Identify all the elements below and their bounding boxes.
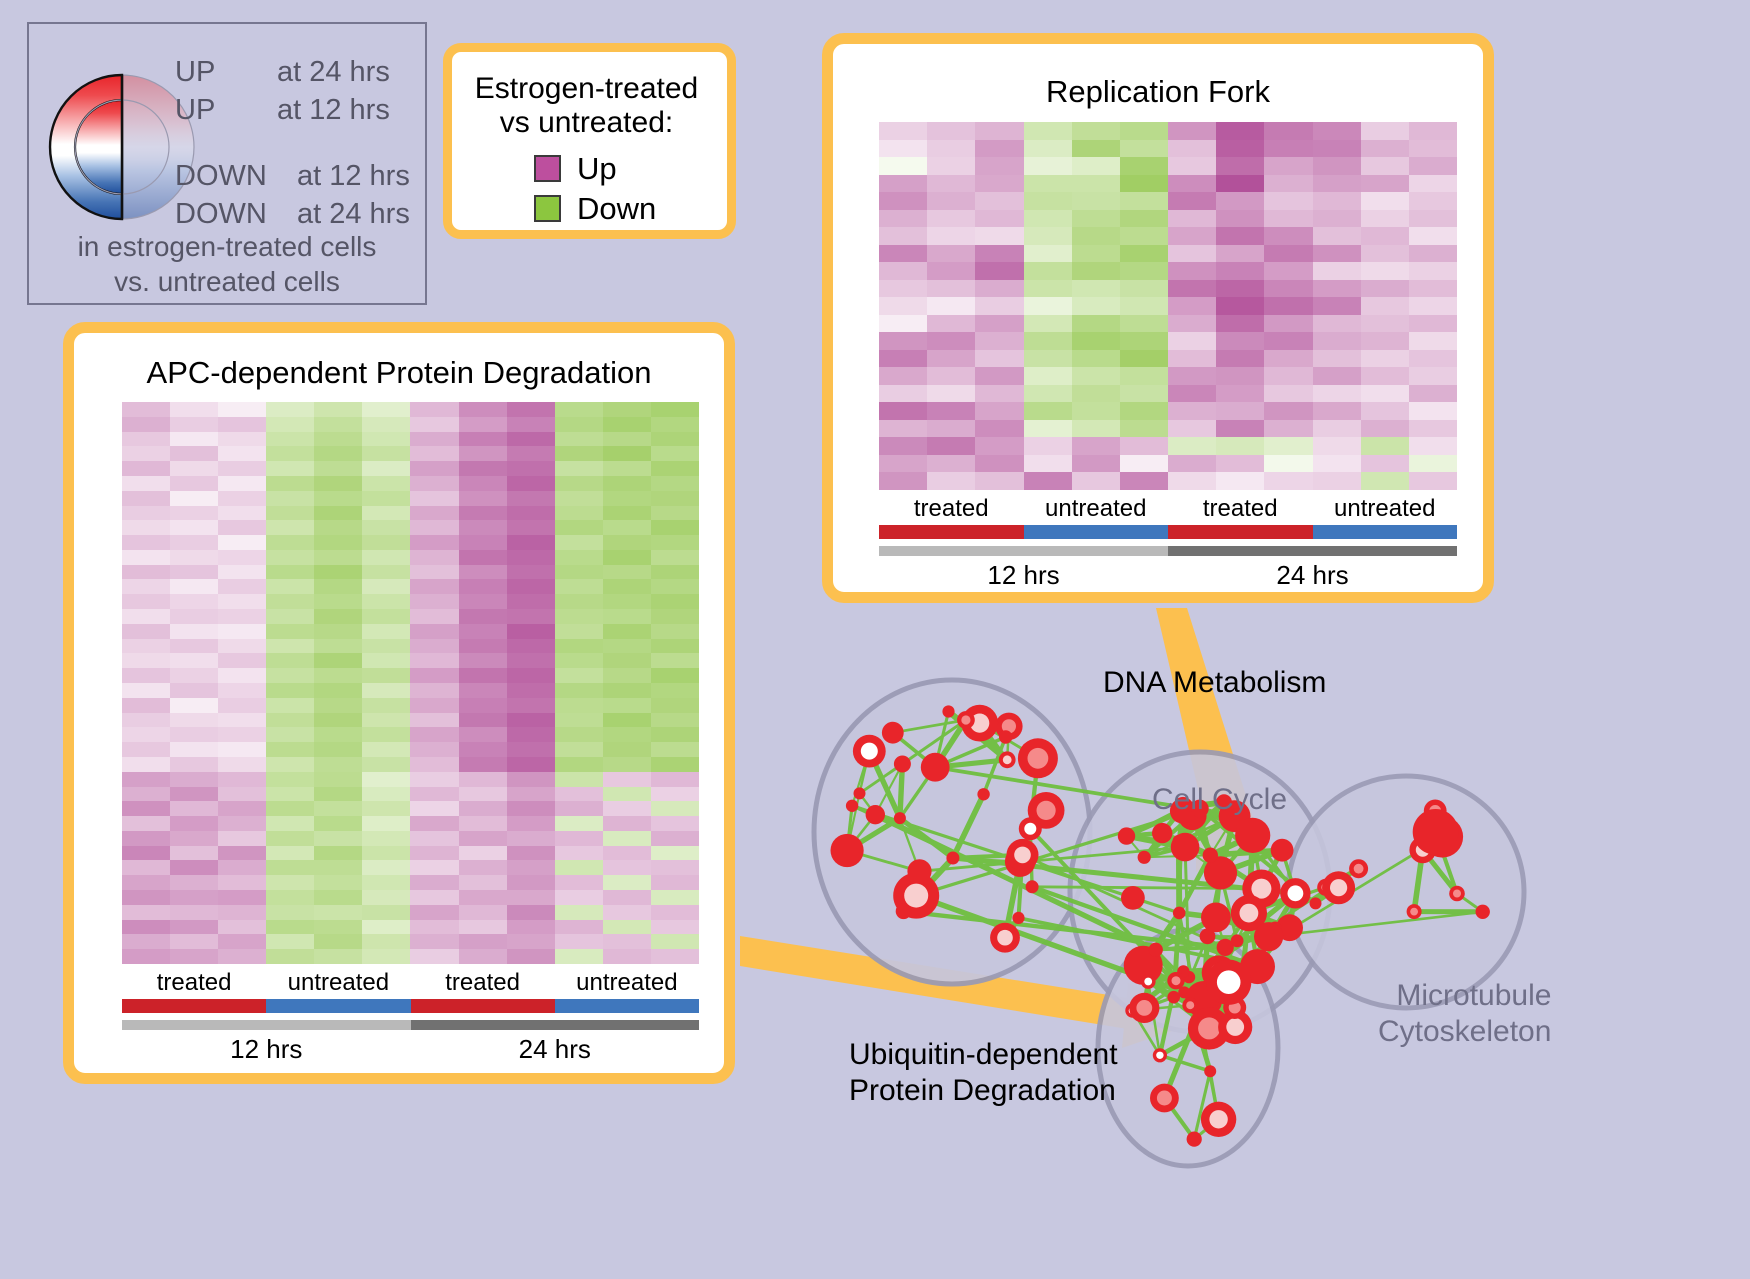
heatmap-cell bbox=[1168, 227, 1216, 245]
network-node bbox=[866, 805, 885, 824]
treatment-bar-segment bbox=[1024, 525, 1169, 539]
heatmap-cell bbox=[1024, 227, 1072, 245]
axis-rf-group-labels: treateduntreatedtreateduntreated bbox=[879, 496, 1457, 522]
heatmap-cell bbox=[1168, 245, 1216, 263]
network-node bbox=[1310, 897, 1322, 909]
heatmap-cell bbox=[603, 949, 651, 964]
network-node bbox=[1167, 991, 1180, 1004]
heatmap-cell bbox=[651, 653, 699, 668]
heatmap-cell bbox=[879, 280, 927, 298]
heatmap-cell bbox=[362, 520, 410, 535]
heatmap-cell bbox=[362, 565, 410, 580]
heatmap-cell bbox=[1313, 122, 1361, 140]
heatmap-cell bbox=[1313, 245, 1361, 263]
heatmap-cell bbox=[651, 905, 699, 920]
heatmap-cell bbox=[362, 432, 410, 447]
heatmap-cell bbox=[122, 772, 170, 787]
heatmap-cell bbox=[1120, 472, 1168, 490]
heatmap-cell bbox=[218, 683, 266, 698]
heatmap-cell bbox=[603, 402, 651, 417]
heatmap-cell bbox=[507, 846, 555, 861]
heatmap-cell bbox=[927, 315, 975, 333]
heatmap-cell bbox=[459, 920, 507, 935]
heatmap-cell bbox=[879, 175, 927, 193]
heatmap-cell bbox=[459, 402, 507, 417]
heatmap-cell bbox=[507, 624, 555, 639]
microtubule-line-1: Microtubule bbox=[1378, 978, 1551, 1014]
heatmap-cell bbox=[170, 668, 218, 683]
heatmap-cell bbox=[362, 757, 410, 772]
network-node bbox=[896, 904, 912, 920]
heatmap-cell bbox=[459, 417, 507, 432]
heatmap-cell bbox=[1072, 280, 1120, 298]
heatmap-cell bbox=[314, 742, 362, 757]
heatmap-cell bbox=[314, 713, 362, 728]
heatmap-cell bbox=[410, 727, 458, 742]
heatmap-cell bbox=[1264, 367, 1312, 385]
heatmap-cell bbox=[651, 609, 699, 624]
heatmap-cell bbox=[459, 432, 507, 447]
heatmap-cell bbox=[555, 742, 603, 757]
heatmap-cell bbox=[1024, 192, 1072, 210]
heatmap-cell bbox=[459, 757, 507, 772]
heatmap-cell bbox=[410, 831, 458, 846]
heatmap-cell bbox=[1216, 245, 1264, 263]
heatmap-cell bbox=[1264, 210, 1312, 228]
heatmap-cell bbox=[555, 698, 603, 713]
heatmap-cell bbox=[1168, 192, 1216, 210]
heatmap-cell bbox=[1072, 455, 1120, 473]
heatmap-cell bbox=[1409, 385, 1457, 403]
heatmap-cell bbox=[122, 432, 170, 447]
heatmap-cell bbox=[410, 698, 458, 713]
network-node bbox=[853, 735, 886, 768]
heatmap-cell bbox=[555, 831, 603, 846]
heatmap-cell bbox=[1409, 175, 1457, 193]
heatmap-cell bbox=[410, 565, 458, 580]
heatmap-cell bbox=[362, 742, 410, 757]
network-node bbox=[1182, 997, 1198, 1013]
heatmap-cell bbox=[362, 594, 410, 609]
network-node bbox=[1476, 905, 1490, 919]
heatmap-cell bbox=[122, 890, 170, 905]
heatmap-cell bbox=[1264, 455, 1312, 473]
heatmap-cell bbox=[459, 949, 507, 964]
heatmap-replication-fork bbox=[879, 122, 1457, 490]
heatmap-cell bbox=[1313, 210, 1361, 228]
heatmap-cell bbox=[122, 609, 170, 624]
heatmap-cell bbox=[218, 550, 266, 565]
heatmap-cell bbox=[1216, 210, 1264, 228]
heatmap-cell bbox=[170, 476, 218, 491]
heatmap-cell bbox=[218, 653, 266, 668]
heatmap-cell bbox=[1072, 192, 1120, 210]
heatmap-cell bbox=[362, 920, 410, 935]
colorwheel-legend-footer: in estrogen-treated cells vs. untreated … bbox=[29, 229, 425, 300]
heatmap-cell bbox=[410, 491, 458, 506]
heatmap-cell bbox=[1264, 262, 1312, 280]
heatmap-cell bbox=[314, 816, 362, 831]
heatmap-cell bbox=[362, 787, 410, 802]
heatmap-cell bbox=[1168, 367, 1216, 385]
heatmap-cell bbox=[1024, 420, 1072, 438]
heatmap-cell bbox=[975, 192, 1023, 210]
heatmap-cell bbox=[1120, 262, 1168, 280]
panel-replication-fork: Replication Fork treateduntreatedtreated… bbox=[822, 33, 1494, 603]
heatmap-cell bbox=[651, 757, 699, 772]
heatmap-cell bbox=[879, 437, 927, 455]
heatmap-cell bbox=[410, 816, 458, 831]
heatmap-cell bbox=[555, 801, 603, 816]
heatmap-cell bbox=[170, 860, 218, 875]
ubiquitin-line-1: Ubiquitin-dependent bbox=[849, 1037, 1118, 1073]
heatmap-cell bbox=[1024, 402, 1072, 420]
heatmap-cell bbox=[218, 772, 266, 787]
heatmap-cell bbox=[1168, 210, 1216, 228]
heatmap-cell bbox=[1409, 227, 1457, 245]
heatmap-cell bbox=[1072, 402, 1120, 420]
heatmap-cell bbox=[1409, 245, 1457, 263]
heatmap-cell bbox=[975, 245, 1023, 263]
heatmap-cell bbox=[975, 297, 1023, 315]
heatmap-cell bbox=[651, 934, 699, 949]
heatmap-cell bbox=[122, 831, 170, 846]
group-label: treated bbox=[122, 970, 266, 996]
heatmap-cell bbox=[651, 846, 699, 861]
heatmap-cell bbox=[218, 579, 266, 594]
heatmap-cell bbox=[1216, 262, 1264, 280]
axis-apc-time-labels: 12 hrs24 hrs bbox=[122, 1034, 699, 1065]
heatmap-cell bbox=[170, 742, 218, 757]
heatmap-cell bbox=[218, 787, 266, 802]
heatmap-cell bbox=[218, 742, 266, 757]
heatmap-cell bbox=[218, 476, 266, 491]
heatmap-cell bbox=[170, 949, 218, 964]
heatmap-cell bbox=[555, 757, 603, 772]
heatmap-cell bbox=[1024, 280, 1072, 298]
network-node bbox=[894, 756, 911, 773]
heatmap-cell bbox=[555, 506, 603, 521]
heatmap-cell bbox=[1072, 262, 1120, 280]
heatmap-cell bbox=[410, 476, 458, 491]
heatmap-cell bbox=[603, 816, 651, 831]
heatmap-cell bbox=[1264, 280, 1312, 298]
heatmap-cell bbox=[1216, 455, 1264, 473]
network-node bbox=[1153, 1048, 1167, 1062]
heatmap-cell bbox=[1361, 280, 1409, 298]
heatmap-cell bbox=[266, 920, 314, 935]
heatmap-cell bbox=[507, 787, 555, 802]
heatmap-cell bbox=[1024, 262, 1072, 280]
heatmap-cell bbox=[410, 520, 458, 535]
heatmap-cell bbox=[122, 506, 170, 521]
heatmap-cell bbox=[975, 402, 1023, 420]
heatmap-cell bbox=[266, 890, 314, 905]
heatmap-cell bbox=[975, 175, 1023, 193]
heatmap-cell bbox=[218, 949, 266, 964]
heatmap-cell bbox=[555, 713, 603, 728]
heatmap-cell bbox=[603, 860, 651, 875]
heatmap-cell bbox=[507, 949, 555, 964]
heatmap-cell bbox=[122, 934, 170, 949]
heatmap-cell bbox=[314, 565, 362, 580]
heatmap-cell bbox=[1409, 402, 1457, 420]
heatmap-cell bbox=[1120, 157, 1168, 175]
heatmap-cell bbox=[651, 698, 699, 713]
heatmap-cell bbox=[879, 367, 927, 385]
heatmap-cell bbox=[507, 491, 555, 506]
heatmap-cell bbox=[1264, 175, 1312, 193]
heatmap-cell bbox=[603, 801, 651, 816]
network-node bbox=[1187, 1132, 1202, 1147]
heatmap-cell bbox=[1313, 402, 1361, 420]
heatmap-cell bbox=[507, 446, 555, 461]
heatmap-cell bbox=[459, 579, 507, 594]
heatmap-cell bbox=[170, 535, 218, 550]
network-node bbox=[1121, 886, 1145, 910]
heatmap-cell bbox=[122, 491, 170, 506]
heatmap-cell bbox=[507, 757, 555, 772]
heatmap-cell bbox=[1313, 140, 1361, 158]
heatmap-cell bbox=[314, 446, 362, 461]
network-node bbox=[1201, 1102, 1236, 1137]
heatmap-cell bbox=[459, 624, 507, 639]
heatmap-cell bbox=[122, 402, 170, 417]
heatmap-cell bbox=[459, 594, 507, 609]
heatmap-cell bbox=[927, 297, 975, 315]
heatmap-cell bbox=[170, 520, 218, 535]
network-node bbox=[1149, 943, 1163, 957]
network-node bbox=[1206, 960, 1251, 1005]
axis-rf-treatment-bar bbox=[879, 525, 1457, 539]
heatmap-cell bbox=[122, 565, 170, 580]
heatmap-cell bbox=[1264, 140, 1312, 158]
heatmap-cell bbox=[651, 624, 699, 639]
heatmap-cell bbox=[927, 280, 975, 298]
heatmap-cell bbox=[266, 432, 314, 447]
panel-apc-degradation: APC-dependent Protein Degradation treate… bbox=[63, 322, 735, 1084]
heatmap-cell bbox=[410, 609, 458, 624]
heatmap-cell bbox=[507, 506, 555, 521]
heatmap-cell bbox=[603, 550, 651, 565]
heatmap-cell bbox=[1072, 175, 1120, 193]
heatmap-cell bbox=[122, 846, 170, 861]
heatmap-cell bbox=[927, 367, 975, 385]
heatmap-cell bbox=[555, 875, 603, 890]
heatmap-cell bbox=[410, 846, 458, 861]
heatmap-cell bbox=[1216, 280, 1264, 298]
heatmap-cell bbox=[603, 727, 651, 742]
heatmap-cell bbox=[1024, 350, 1072, 368]
heatmap-cell bbox=[314, 535, 362, 550]
heatmap-cell bbox=[170, 639, 218, 654]
heatmap-cell bbox=[1216, 385, 1264, 403]
network-node bbox=[1322, 871, 1355, 904]
legend-item-up-label: Up bbox=[577, 153, 617, 184]
heatmap-cell bbox=[218, 890, 266, 905]
heatmap-cell bbox=[507, 698, 555, 713]
network-node bbox=[1173, 907, 1186, 920]
heatmap-cell bbox=[1072, 420, 1120, 438]
heatmap-cell bbox=[170, 506, 218, 521]
heatmap-cell bbox=[362, 417, 410, 432]
network-node bbox=[942, 705, 954, 717]
heatmap-cell bbox=[410, 446, 458, 461]
heatmap-cell bbox=[651, 476, 699, 491]
heatmap-cell bbox=[314, 506, 362, 521]
heatmap-cell bbox=[1361, 192, 1409, 210]
heatmap-cell bbox=[122, 787, 170, 802]
wheel-row-1-time: at 12 hrs bbox=[277, 94, 390, 127]
wheel-row-2-direction: DOWN bbox=[175, 160, 267, 193]
heatmap-cell bbox=[410, 594, 458, 609]
figure-canvas: UP at 24 hrs UP at 12 hrs DOWN at 12 hrs… bbox=[0, 0, 1750, 1279]
heatmap-cell bbox=[1409, 157, 1457, 175]
heatmap-cell bbox=[1216, 175, 1264, 193]
heatmap-cell bbox=[459, 565, 507, 580]
heatmap-cell bbox=[170, 579, 218, 594]
heatmap-cell bbox=[1120, 367, 1168, 385]
heatmap-cell bbox=[218, 905, 266, 920]
network-svg bbox=[780, 600, 1740, 1279]
heatmap-cell bbox=[603, 668, 651, 683]
heatmap-cell bbox=[1216, 192, 1264, 210]
heatmap-cell bbox=[651, 727, 699, 742]
treatment-bar-segment bbox=[411, 999, 555, 1013]
network-node bbox=[921, 753, 950, 782]
heatmap-cell bbox=[170, 402, 218, 417]
heatmap-cell bbox=[410, 713, 458, 728]
heatmap-cell bbox=[314, 875, 362, 890]
heatmap-cell bbox=[555, 565, 603, 580]
heatmap-cell bbox=[1072, 297, 1120, 315]
heatmap-cell bbox=[459, 816, 507, 831]
heatmap-cell bbox=[1168, 175, 1216, 193]
time-label: 24 hrs bbox=[411, 1034, 700, 1065]
heatmap-cell bbox=[651, 639, 699, 654]
heatmap-cell bbox=[218, 535, 266, 550]
network-node bbox=[1204, 1065, 1216, 1077]
heatmap-cell bbox=[1120, 245, 1168, 263]
heatmap-cell bbox=[555, 905, 603, 920]
heatmap-cell bbox=[1313, 157, 1361, 175]
heatmap-cell bbox=[603, 624, 651, 639]
heatmap-cell bbox=[1361, 455, 1409, 473]
heatmap-cell bbox=[1264, 245, 1312, 263]
heatmap-cell bbox=[555, 417, 603, 432]
heatmap-cell bbox=[1072, 245, 1120, 263]
wheel-row-2-time: at 12 hrs bbox=[297, 160, 410, 193]
heatmap-cell bbox=[507, 890, 555, 905]
heatmap-cell bbox=[362, 905, 410, 920]
heatmap-cell bbox=[603, 432, 651, 447]
network-node bbox=[1171, 833, 1200, 862]
heatmap-cell bbox=[1072, 227, 1120, 245]
heatmap-cell bbox=[603, 787, 651, 802]
heatmap-cell bbox=[1024, 140, 1072, 158]
heatmap-cell bbox=[410, 579, 458, 594]
heatmap-cell bbox=[603, 920, 651, 935]
heatmap-cell bbox=[122, 535, 170, 550]
wheel-row-0-time: at 24 hrs bbox=[277, 56, 390, 89]
heatmap-cell bbox=[218, 860, 266, 875]
heatmap-cell bbox=[314, 432, 362, 447]
heatmap-cell bbox=[362, 949, 410, 964]
treatment-bar-segment bbox=[1168, 525, 1313, 539]
network-node bbox=[1019, 817, 1042, 840]
heatmap-cell bbox=[507, 683, 555, 698]
heatmap-cell bbox=[314, 579, 362, 594]
heatmap-cell bbox=[651, 890, 699, 905]
heatmap-cell bbox=[651, 535, 699, 550]
heatmap-cell bbox=[314, 609, 362, 624]
network-node bbox=[1141, 974, 1156, 989]
heatmap-cell bbox=[410, 934, 458, 949]
heatmap-cell bbox=[879, 122, 927, 140]
heatmap-cell bbox=[122, 461, 170, 476]
heatmap-cell bbox=[507, 727, 555, 742]
heatmap-cell bbox=[555, 816, 603, 831]
heatmap-cell bbox=[1168, 437, 1216, 455]
heatmap-cell bbox=[314, 550, 362, 565]
heatmap-cell bbox=[266, 476, 314, 491]
heatmap-cell bbox=[362, 491, 410, 506]
network-node bbox=[1235, 818, 1270, 853]
heatmap-cell bbox=[1361, 175, 1409, 193]
heatmap-cell bbox=[555, 594, 603, 609]
heatmap-cell bbox=[459, 772, 507, 787]
heatmap-cell bbox=[603, 594, 651, 609]
heatmap-cell bbox=[122, 668, 170, 683]
heatmap-cell bbox=[218, 461, 266, 476]
heatmap-cell bbox=[459, 683, 507, 698]
heatmap-cell bbox=[651, 417, 699, 432]
heatmap-cell bbox=[362, 683, 410, 698]
heatmap-cell bbox=[218, 816, 266, 831]
heatmap-cell bbox=[603, 639, 651, 654]
heatmap-cell bbox=[218, 402, 266, 417]
heatmap-cell bbox=[555, 624, 603, 639]
network-node bbox=[957, 711, 975, 729]
heatmap-cell bbox=[218, 417, 266, 432]
heatmap-cell bbox=[603, 683, 651, 698]
heatmap-cell bbox=[122, 742, 170, 757]
heatmap-cell bbox=[314, 698, 362, 713]
network-node bbox=[882, 722, 904, 744]
heatmap-cell bbox=[1120, 297, 1168, 315]
heatmap-cell bbox=[1409, 280, 1457, 298]
heatmap-cell bbox=[314, 476, 362, 491]
time-label: 12 hrs bbox=[879, 560, 1168, 591]
axis-replication-fork: treateduntreatedtreateduntreated 12 hrs2… bbox=[879, 496, 1457, 591]
heatmap-cell bbox=[362, 461, 410, 476]
heatmap-cell bbox=[879, 227, 927, 245]
heatmap-cell bbox=[1409, 192, 1457, 210]
heatmap-cell bbox=[314, 757, 362, 772]
heatmap-cell bbox=[975, 350, 1023, 368]
heatmap-cell bbox=[266, 491, 314, 506]
wheel-row-3-direction: DOWN bbox=[175, 198, 267, 231]
heatmap-cell bbox=[555, 402, 603, 417]
heatmap-cell bbox=[603, 890, 651, 905]
heatmap-cell bbox=[603, 757, 651, 772]
heatmap-cell bbox=[362, 801, 410, 816]
heatmap-cell bbox=[459, 860, 507, 875]
heatmap-cell bbox=[266, 565, 314, 580]
heatmap-cell bbox=[410, 742, 458, 757]
heatmap-cell bbox=[122, 683, 170, 698]
heatmap-cell bbox=[218, 727, 266, 742]
